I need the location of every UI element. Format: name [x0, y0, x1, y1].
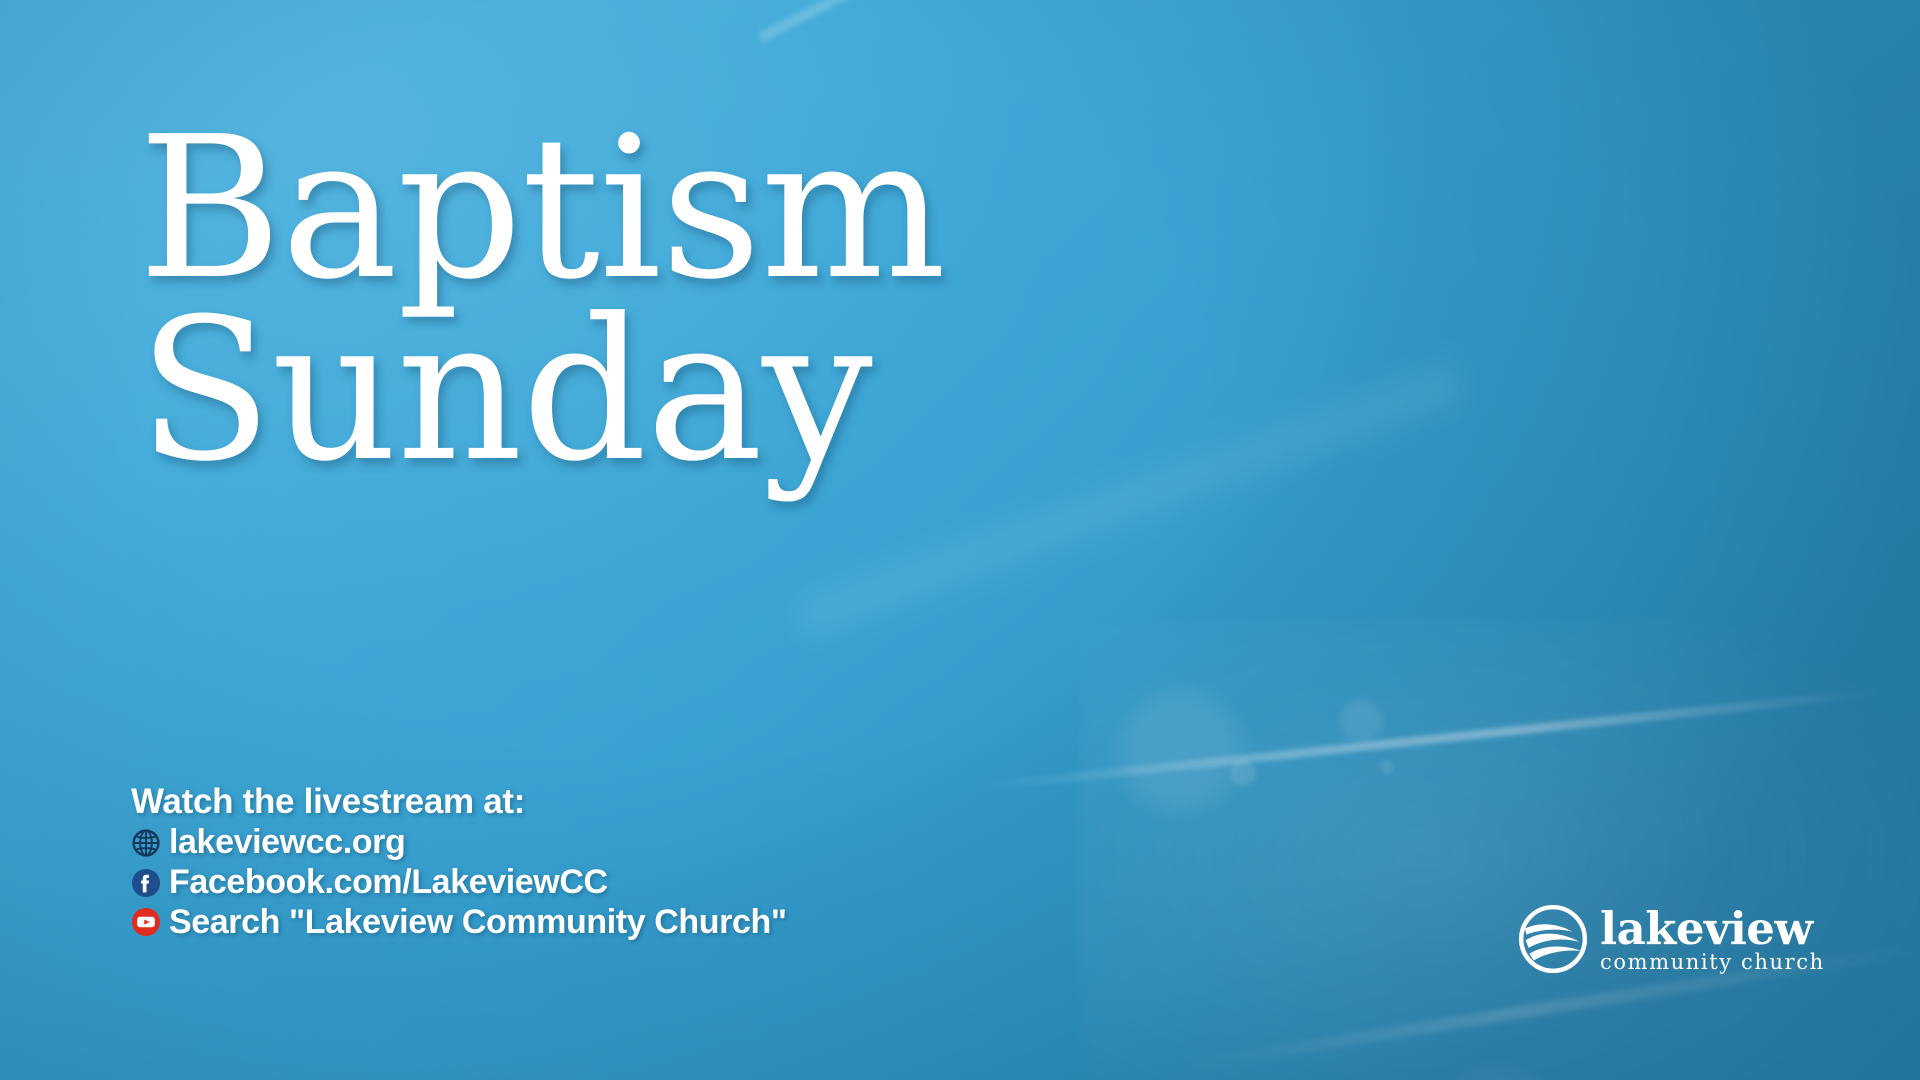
livestream-heading: Watch the livestream at: [131, 782, 787, 821]
bokeh-circle [1230, 760, 1256, 786]
bokeh-circle [1340, 700, 1382, 742]
brand-name: lakeview [1600, 906, 1825, 951]
livestream-link-label: Facebook.com/LakeviewCC [169, 865, 608, 901]
light-streak-primary [646, 0, 1920, 12]
bokeh-circle [1430, 1070, 1560, 1080]
livestream-info-block: Watch the livestream at: lakeviewcc.org [131, 782, 787, 940]
presentation-slide: Baptism Sunday Watch the livestream at: … [0, 0, 1920, 1080]
slide-title: Baptism Sunday [138, 118, 1118, 483]
bokeh-circle [1120, 690, 1240, 810]
light-streak-secondary [756, 0, 1920, 45]
livestream-link-label: lakeviewcc.org [169, 825, 405, 861]
slide-title-line-1: Baptism [138, 118, 1118, 300]
livestream-link-label: Search "Lakeview Community Church" [169, 905, 787, 941]
bokeh-circle [1380, 760, 1394, 774]
facebook-icon [131, 868, 161, 898]
livestream-link-website[interactable]: lakeviewcc.org [131, 825, 787, 861]
slide-title-line-2: Sunday [138, 300, 1118, 482]
globe-icon [131, 828, 161, 858]
light-streak-mid-upper [982, 688, 1878, 791]
brand-wordmark: lakeview community church [1600, 906, 1825, 973]
lens-glow-plume [1080, 620, 1920, 1080]
youtube-icon [131, 907, 161, 937]
brand-logo: lakeview community church [1516, 902, 1825, 976]
lakeview-wave-circle-icon [1516, 902, 1590, 976]
livestream-link-youtube[interactable]: Search "Lakeview Community Church" [131, 905, 787, 941]
brand-tagline: community church [1600, 952, 1825, 973]
livestream-link-facebook[interactable]: Facebook.com/LakeviewCC [131, 865, 787, 901]
